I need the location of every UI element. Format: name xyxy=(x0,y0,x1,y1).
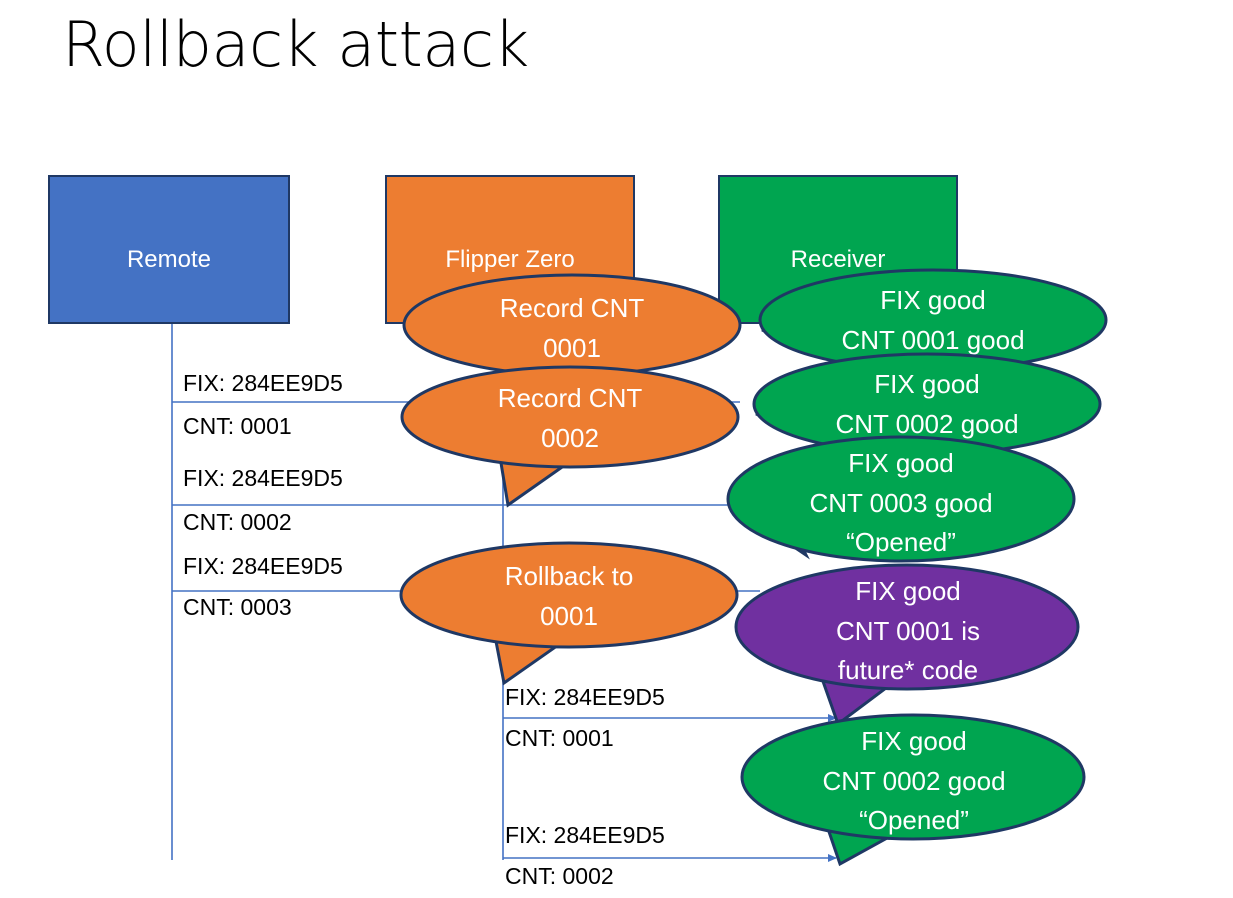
lane-header-remote[interactable]: Remote xyxy=(48,175,290,324)
callout-shape xyxy=(399,543,739,688)
callout-flipper-rollback[interactable]: Rollback to 0001 xyxy=(399,543,739,668)
message-label-m3-fix: FIX: 284EE9D5 xyxy=(183,554,343,578)
lane-label-remote: Remote xyxy=(127,246,211,274)
lane-label-flipper: Flipper Zero xyxy=(445,246,574,274)
message-label-m5-cnt: CNT: 0002 xyxy=(505,864,614,888)
callout-flipper-record-1[interactable]: Record CNT 0001 xyxy=(402,273,742,378)
message-label-m3-cnt: CNT: 0003 xyxy=(183,595,292,619)
message-label-m1-cnt: CNT: 0001 xyxy=(183,414,292,438)
callout-shape xyxy=(740,714,1088,882)
message-label-m2-cnt: CNT: 0002 xyxy=(183,510,292,534)
message-label-m4-fix: FIX: 284EE9D5 xyxy=(505,685,665,709)
message-label-m2-fix: FIX: 284EE9D5 xyxy=(183,466,343,490)
callout-shape xyxy=(400,365,740,515)
slide-canvas: Rollback attack Remote Flipper Zero Rece… xyxy=(0,0,1233,898)
message-label-m4-cnt: CNT: 0001 xyxy=(505,726,614,750)
callout-receiver-reject[interactable]: FIX good CNT 0001 is future* code xyxy=(734,564,1082,694)
callout-receiver-ok-4[interactable]: FIX good CNT 0002 good “Opened” xyxy=(740,714,1088,844)
callout-flipper-record-2[interactable]: Record CNT 0002 xyxy=(400,365,740,505)
callout-receiver-ok-3[interactable]: FIX good CNT 0003 good “Opened” xyxy=(726,435,1076,565)
message-label-m5-fix: FIX: 284EE9D5 xyxy=(505,823,665,847)
callout-shape xyxy=(734,564,1082,732)
page-title: Rollback attack xyxy=(62,8,529,81)
message-label-m1-fix: FIX: 284EE9D5 xyxy=(183,371,343,395)
